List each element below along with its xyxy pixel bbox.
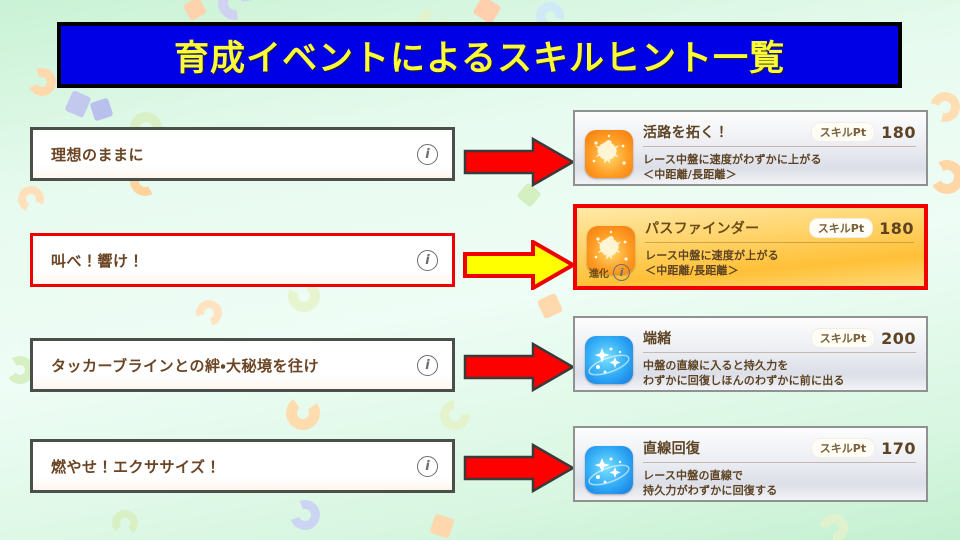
skill-pt-value: 170 bbox=[881, 439, 916, 458]
divider bbox=[643, 352, 916, 353]
skill-card-1[interactable]: 活路を拓く！ スキルPt 180 レース中盤に速度がわずかに上がる ＜中距離/長… bbox=[573, 110, 928, 186]
arrow-yellow-highlight bbox=[463, 240, 575, 290]
event-name: 燃やせ！エクササイズ！ bbox=[51, 456, 417, 477]
page-title: 育成イベントによるスキルヒント一覧 bbox=[57, 22, 902, 88]
skill-name: 活路を拓く！ bbox=[643, 122, 805, 142]
skill-header: 活路を拓く！ スキルPt 180 bbox=[643, 122, 916, 142]
confetti-ring bbox=[285, 495, 325, 535]
skill-card-4[interactable]: 直線回復 スキルPt 170 レース中盤の直線で 持久力がわずかに回復する bbox=[573, 426, 928, 502]
speed-skill-icon bbox=[585, 130, 633, 178]
arrow-red-1 bbox=[463, 137, 575, 187]
skill-pt-label: スキルPt bbox=[809, 218, 873, 238]
skill-body: 直線回復 スキルPt 170 レース中盤の直線で 持久力がわずかに回復する bbox=[643, 436, 916, 494]
skill-header: 端緒 スキルPt 200 bbox=[643, 328, 916, 348]
confetti-quad bbox=[537, 293, 564, 320]
divider bbox=[643, 146, 916, 147]
skill-body: 活路を拓く！ スキルPt 180 レース中盤に速度がわずかに上がる ＜中距離/長… bbox=[643, 120, 916, 178]
skill-body: パスファインダー スキルPt 180 レース中盤に速度が上がる ＜中距離/長距離… bbox=[645, 216, 914, 280]
skill-description-line2: ＜中距離/長距離＞ bbox=[643, 167, 916, 182]
skill-card-2[interactable]: パスファインダー スキルPt 180 レース中盤に速度が上がる ＜中距離/長距離… bbox=[573, 204, 928, 290]
skill-card-3[interactable]: 端緒 スキルPt 200 中盤の直線に入ると持久力を わずかに回復しほんのわずか… bbox=[573, 316, 928, 392]
info-icon[interactable]: i bbox=[417, 456, 438, 477]
confetti-ring bbox=[434, 394, 476, 436]
recovery-skill-icon bbox=[585, 336, 633, 384]
divider bbox=[643, 462, 916, 463]
confetti-ring bbox=[24, 64, 60, 100]
confetti-ring bbox=[283, 393, 322, 432]
confetti-ring bbox=[111, 509, 139, 537]
confetti-ring bbox=[191, 295, 227, 331]
confetti-ring bbox=[814, 508, 853, 540]
skill-name: パスファインダー bbox=[645, 218, 803, 238]
info-icon[interactable]: i bbox=[417, 355, 438, 376]
skill-pt-value: 180 bbox=[881, 123, 916, 142]
confetti-quad bbox=[64, 90, 91, 118]
confetti-quad bbox=[90, 98, 114, 122]
skill-pt-label: スキルPt bbox=[811, 122, 875, 142]
recovery-skill-icon bbox=[585, 446, 633, 494]
skill-pt-label: スキルPt bbox=[811, 328, 875, 348]
skill-header: パスファインダー スキルPt 180 bbox=[645, 218, 914, 238]
skill-description-line2: ＜中距離/長距離＞ bbox=[645, 263, 914, 278]
skill-pt-value: 180 bbox=[879, 219, 914, 238]
skill-description-line2: 持久力がわずかに回復する bbox=[643, 483, 916, 498]
skill-name: 端緒 bbox=[643, 328, 805, 348]
event-card-2[interactable]: 叫べ！響け！ i bbox=[30, 233, 455, 287]
skill-pt-value: 200 bbox=[881, 329, 916, 348]
confetti-ring bbox=[926, 156, 960, 198]
info-icon[interactable]: i bbox=[613, 264, 630, 281]
evolution-label: 進化 bbox=[589, 265, 609, 280]
event-name: タッカーブラインとの絆・大秘境を往け bbox=[51, 355, 417, 376]
event-name: 叫べ！響け！ bbox=[51, 250, 417, 271]
info-icon[interactable]: i bbox=[417, 144, 438, 165]
event-name: 理想のままに bbox=[51, 144, 417, 165]
skill-description-line1: レース中盤に速度が上がる bbox=[645, 248, 914, 263]
event-card-1[interactable]: 理想のままに i bbox=[30, 127, 455, 181]
skill-description-line2: わずかに回復しほんのわずかに前に出る bbox=[643, 373, 916, 388]
skill-header: 直線回復 スキルPt 170 bbox=[643, 438, 916, 458]
skill-description-line1: レース中盤の直線で bbox=[643, 468, 916, 483]
event-card-4[interactable]: 燃やせ！エクササイズ！ i bbox=[30, 439, 455, 493]
confetti-ring bbox=[925, 87, 960, 128]
slide-canvas: 育成イベントによるスキルヒント一覧 理想のままに i 叫べ！響け！ i タッカー… bbox=[0, 0, 960, 540]
confetti-ring bbox=[14, 182, 47, 215]
skill-body: 端緒 スキルPt 200 中盤の直線に入ると持久力を わずかに回復しほんのわずか… bbox=[643, 326, 916, 384]
evolution-badge[interactable]: 進化 i bbox=[589, 264, 630, 281]
skill-name: 直線回復 bbox=[643, 438, 805, 458]
info-icon[interactable]: i bbox=[417, 250, 438, 271]
confetti-quad bbox=[183, 0, 208, 21]
page-title-text: 育成イベントによるスキルヒント一覧 bbox=[174, 30, 785, 81]
confetti-quad bbox=[429, 513, 454, 538]
arrow-red-4 bbox=[463, 443, 575, 493]
confetti-quad bbox=[472, 0, 501, 24]
arrow-red-3 bbox=[463, 342, 575, 392]
skill-pt-label: スキルPt bbox=[811, 438, 875, 458]
skill-description-line1: 中盤の直線に入ると持久力を bbox=[643, 358, 916, 373]
event-card-3[interactable]: タッカーブラインとの絆・大秘境を往け i bbox=[30, 338, 455, 392]
divider bbox=[645, 242, 914, 243]
skill-description-line1: レース中盤に速度がわずかに上がる bbox=[643, 152, 916, 167]
